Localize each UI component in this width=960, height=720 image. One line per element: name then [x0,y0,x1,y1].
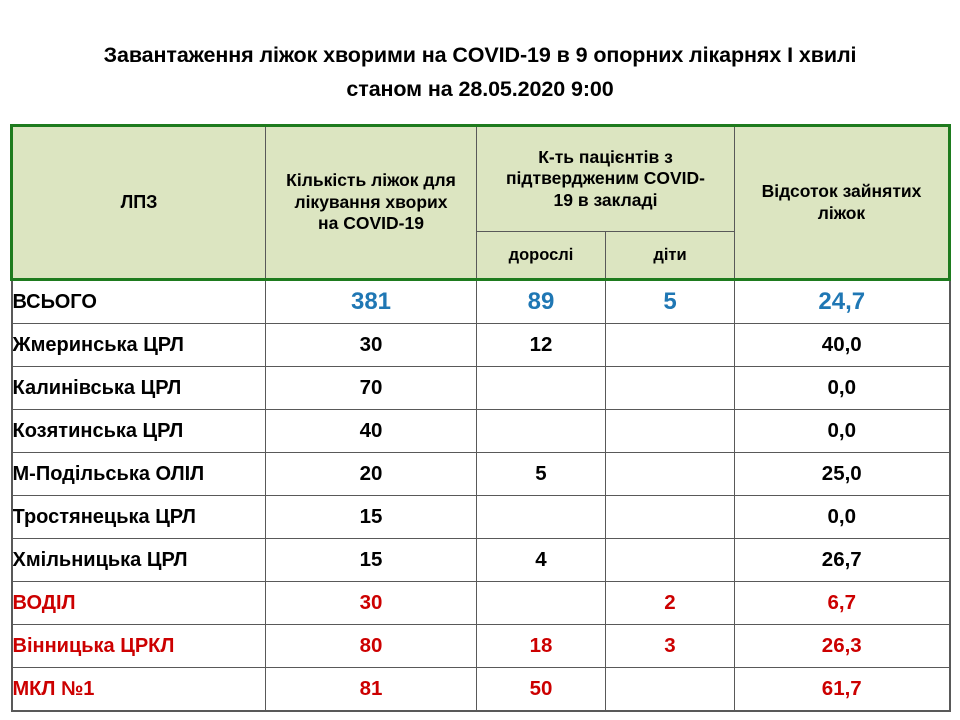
cell-adult-patients [477,582,606,625]
column-header-bed-count-line-1: Кількість ліжок для [286,170,456,190]
table-body: ВСЬОГО38189524,7Жмеринська ЦРЛ301240,0Ка… [12,280,950,712]
table-row: Хмільницька ЦРЛ15426,7 [12,539,950,582]
cell-facility-name: Козятинська ЦРЛ [12,410,266,453]
cell-child-patients [606,324,735,367]
table-row: Вінницька ЦРКЛ8018326,3 [12,625,950,668]
cell-child-patients: 2 [606,582,735,625]
cell-facility-name: М-Подільська ОЛІЛ [12,453,266,496]
cell-occupancy-percent: 24,7 [735,280,950,324]
cell-child-patients [606,539,735,582]
cell-child-patients [606,496,735,539]
cell-adult-patients: 5 [477,453,606,496]
cell-child-patients: 5 [606,280,735,324]
column-header-children: діти [606,232,735,280]
cell-child-patients: 3 [606,625,735,668]
cell-occupancy-percent: 0,0 [735,367,950,410]
cell-bed-count: 20 [266,453,477,496]
table-row: Калинівська ЦРЛ700,0 [12,367,950,410]
cell-occupancy-percent: 0,0 [735,496,950,539]
table-row: Жмеринська ЦРЛ301240,0 [12,324,950,367]
cell-facility-name: Вінницька ЦРКЛ [12,625,266,668]
cell-bed-count: 80 [266,625,477,668]
column-header-facility: ЛПЗ [12,126,266,280]
cell-adult-patients [477,410,606,453]
cell-facility-name: ВОДІЛ [12,582,266,625]
cell-occupancy-percent: 6,7 [735,582,950,625]
cell-adult-patients: 89 [477,280,606,324]
table-row: ВСЬОГО38189524,7 [12,280,950,324]
cell-bed-count: 15 [266,496,477,539]
column-header-adults: дорослі [477,232,606,280]
cell-bed-count: 81 [266,668,477,712]
cell-occupancy-percent: 61,7 [735,668,950,712]
page-title-line-1: Завантаження ліжок хворими на COVID-19 в… [0,38,960,72]
cell-child-patients [606,367,735,410]
cell-bed-count: 70 [266,367,477,410]
cell-facility-name: Калинівська ЦРЛ [12,367,266,410]
column-header-patients-line-1: К-ть пацієнтів з [538,147,673,167]
slide-page: Завантаження ліжок хворими на COVID-19 в… [0,0,960,720]
cell-facility-name: ВСЬОГО [12,280,266,324]
column-header-bed-count: Кількість ліжок для лікування хворих на … [266,126,477,280]
column-header-patients-line-2: підтвердженим COVID- [506,168,705,188]
cell-bed-count: 40 [266,410,477,453]
bed-occupancy-table: ЛПЗ Кількість ліжок для лікування хворих… [10,124,951,712]
cell-adult-patients [477,496,606,539]
cell-adult-patients: 18 [477,625,606,668]
cell-adult-patients: 4 [477,539,606,582]
cell-bed-count: 30 [266,582,477,625]
table-row: М-Подільська ОЛІЛ20525,0 [12,453,950,496]
page-title-line-2: станом на 28.05.2020 9:00 [0,72,960,106]
cell-facility-name: Тростянецька ЦРЛ [12,496,266,539]
cell-child-patients [606,410,735,453]
table-row: МКЛ №1815061,7 [12,668,950,712]
cell-child-patients [606,668,735,712]
cell-adult-patients: 50 [477,668,606,712]
cell-occupancy-percent: 26,7 [735,539,950,582]
column-header-patients-group: К-ть пацієнтів з підтвердженим COVID- 19… [477,126,735,232]
cell-occupancy-percent: 40,0 [735,324,950,367]
cell-bed-count: 381 [266,280,477,324]
column-header-percent-line-2: ліжок [818,203,865,223]
column-header-bed-count-line-2: лікування хворих [294,192,447,212]
cell-child-patients [606,453,735,496]
table-row: Тростянецька ЦРЛ150,0 [12,496,950,539]
table-row: ВОДІЛ3026,7 [12,582,950,625]
cell-occupancy-percent: 26,3 [735,625,950,668]
cell-bed-count: 15 [266,539,477,582]
cell-adult-patients: 12 [477,324,606,367]
column-header-percent-line-1: Відсоток зайнятих [762,181,922,201]
table-header-row-main: ЛПЗ Кількість ліжок для лікування хворих… [12,126,950,232]
cell-facility-name: Жмеринська ЦРЛ [12,324,266,367]
column-header-patients-line-3: 19 в закладі [554,190,658,210]
cell-adult-patients [477,367,606,410]
cell-bed-count: 30 [266,324,477,367]
bed-occupancy-table-container: ЛПЗ Кількість ліжок для лікування хворих… [10,124,948,712]
cell-facility-name: МКЛ №1 [12,668,266,712]
table-row: Козятинська ЦРЛ400,0 [12,410,950,453]
cell-facility-name: Хмільницька ЦРЛ [12,539,266,582]
cell-occupancy-percent: 25,0 [735,453,950,496]
page-title: Завантаження ліжок хворими на COVID-19 в… [0,38,960,106]
table-header: ЛПЗ Кількість ліжок для лікування хворих… [12,126,950,280]
column-header-occupancy-percent: Відсоток зайнятих ліжок [735,126,950,280]
cell-occupancy-percent: 0,0 [735,410,950,453]
column-header-bed-count-line-3: на COVID-19 [318,213,424,233]
